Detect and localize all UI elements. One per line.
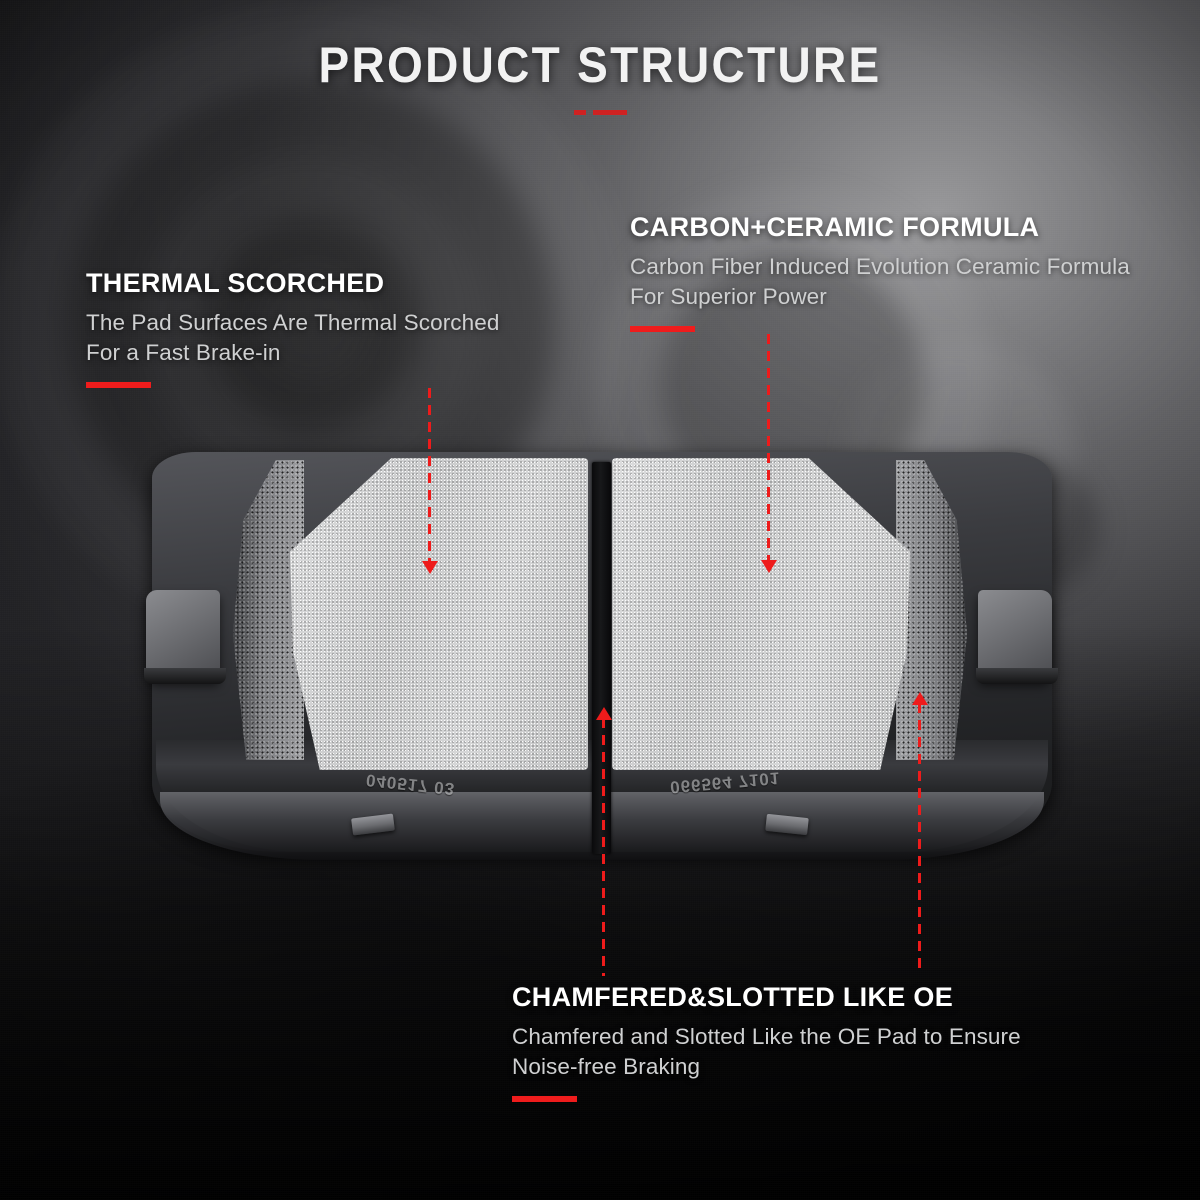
leader-line <box>428 388 431 563</box>
leader-line <box>767 334 770 562</box>
leader-carbon-ceramic <box>767 334 770 562</box>
pad-mounting-ear-right <box>978 590 1052 680</box>
product-structure-infographic: PRODUCT STRUCTURE 040517 03 066564 7101 <box>0 0 1200 1200</box>
leader-arrowhead-down-icon <box>761 560 777 573</box>
brake-pad-photo: 040517 03 066564 7101 <box>130 440 1070 870</box>
callout-carbon-ceramic-formula: CARBON+CERAMIC FORMULA Carbon Fiber Indu… <box>630 212 1170 332</box>
leader-arrowhead-up-icon <box>596 707 612 720</box>
callout-heading: CARBON+CERAMIC FORMULA <box>630 212 1170 243</box>
callout-thermal-scorched: THERMAL SCORCHED The Pad Surfaces Are Th… <box>86 268 506 388</box>
callout-heading: THERMAL SCORCHED <box>86 268 506 299</box>
callout-body: Carbon Fiber Induced Evolution Ceramic F… <box>630 252 1170 312</box>
callout-heading: CHAMFERED&SLOTTED LIKE OE <box>512 982 1092 1013</box>
callout-accent-rule <box>512 1096 577 1102</box>
callout-accent-rule <box>630 326 695 332</box>
callout-accent-rule <box>86 382 151 388</box>
pad-mounting-ear-left <box>146 590 220 680</box>
title-accent-rule <box>0 110 1200 115</box>
callout-body: The Pad Surfaces Are Thermal Scorched Fo… <box>86 308 506 368</box>
leader-line <box>602 718 605 976</box>
title-accent-dash <box>574 110 586 115</box>
leader-center-slot <box>602 718 605 976</box>
callout-body: Chamfered and Slotted Like the OE Pad to… <box>512 1022 1092 1082</box>
leader-thermal-scorched <box>428 388 431 563</box>
title-accent-bar <box>593 110 627 115</box>
pad-ear-shadow-right <box>976 668 1058 684</box>
pad-ear-shadow-left <box>144 668 226 684</box>
leader-line <box>918 703 921 975</box>
leader-chamfered-edge <box>918 703 921 975</box>
page-title: PRODUCT STRUCTURE <box>48 36 1152 94</box>
leader-arrowhead-down-icon <box>422 561 438 574</box>
callout-chamfered-slotted: CHAMFERED&SLOTTED LIKE OE Chamfered and … <box>512 982 1092 1102</box>
leader-arrowhead-up-icon <box>912 692 928 705</box>
